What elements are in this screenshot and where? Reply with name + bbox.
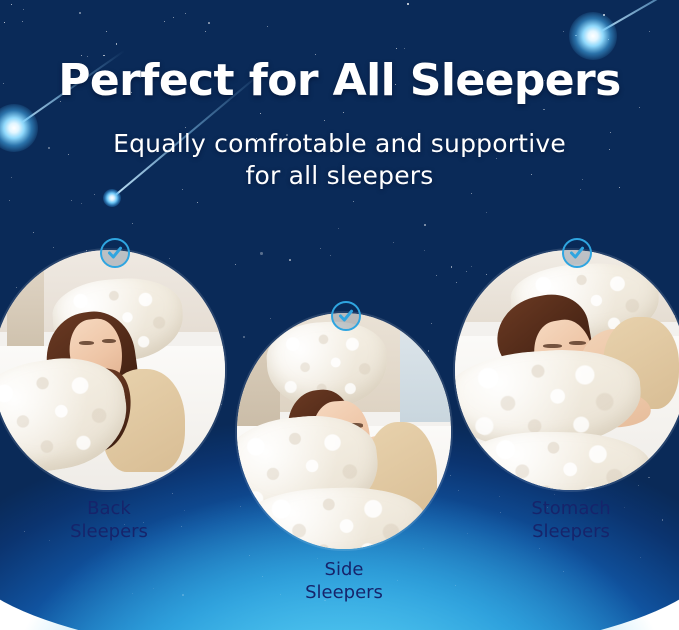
star xyxy=(543,109,545,111)
star xyxy=(539,548,540,549)
subtitle-line-2: for all sleepers xyxy=(0,160,679,192)
photo-scene xyxy=(455,250,679,490)
star xyxy=(197,202,198,203)
caption-line-1: Back xyxy=(0,498,225,521)
sleeper-photo-side xyxy=(237,313,451,549)
star xyxy=(208,22,210,24)
check-badge-stomach xyxy=(562,238,592,268)
star xyxy=(11,4,12,5)
caption-line-2: Sleepers xyxy=(455,521,679,544)
sleeper-banner: Perfect for All Sleepers Equally comfrot… xyxy=(0,0,679,630)
eyebrow xyxy=(569,341,586,345)
sleeper-caption-back: Back Sleepers xyxy=(0,498,225,543)
star xyxy=(116,43,118,45)
star xyxy=(424,250,425,251)
star xyxy=(353,201,354,202)
sleeper-card-side: Side Sleepers xyxy=(237,313,451,603)
page-title: Perfect for All Sleepers xyxy=(0,59,679,103)
sleeper-card-back: Back Sleepers xyxy=(0,250,225,540)
check-badge-side xyxy=(331,301,361,331)
star xyxy=(563,571,564,572)
star xyxy=(81,203,82,204)
star xyxy=(343,112,344,113)
star xyxy=(563,31,564,32)
star xyxy=(407,3,409,5)
star xyxy=(330,255,331,256)
caption-line-1: Stomach xyxy=(455,498,679,521)
eyebrow xyxy=(102,339,116,343)
star xyxy=(4,22,5,23)
star xyxy=(404,48,405,49)
star xyxy=(649,31,650,32)
star xyxy=(22,21,23,22)
star xyxy=(260,252,262,254)
star xyxy=(320,248,321,249)
check-badge-back xyxy=(100,238,130,268)
star xyxy=(393,242,394,243)
sleeper-photo-stomach xyxy=(455,250,679,490)
star xyxy=(9,200,10,201)
check-icon xyxy=(569,245,585,261)
caption-line-1: Side xyxy=(237,559,451,582)
star xyxy=(451,266,453,268)
subtitle-line-1: Equally comfrotable and supportive xyxy=(0,128,679,160)
star xyxy=(185,13,186,14)
page-subtitle: Equally comfrotable and supportive for a… xyxy=(0,128,679,192)
star xyxy=(338,228,339,229)
star xyxy=(436,275,437,276)
star xyxy=(396,48,397,49)
star xyxy=(324,120,325,121)
star xyxy=(640,557,641,558)
star xyxy=(267,26,268,27)
eyebrow xyxy=(79,341,95,345)
sleeper-photo-back xyxy=(0,250,225,490)
photo-scene xyxy=(0,250,225,490)
star xyxy=(53,247,54,248)
check-icon xyxy=(338,308,354,324)
star xyxy=(260,113,261,114)
sleeper-caption-side: Side Sleepers xyxy=(237,559,451,604)
eyebrow xyxy=(543,344,562,348)
sleeper-card-stomach: Stomach Sleepers xyxy=(455,250,679,540)
star xyxy=(79,12,81,14)
star xyxy=(33,232,34,233)
star xyxy=(132,223,134,225)
star xyxy=(173,17,174,18)
star xyxy=(639,107,640,108)
caption-line-2: Sleepers xyxy=(237,582,451,605)
star xyxy=(471,193,473,195)
photo-scene xyxy=(237,313,451,549)
star xyxy=(424,224,426,226)
check-icon xyxy=(107,245,123,261)
star xyxy=(106,31,107,32)
star xyxy=(486,212,487,213)
star xyxy=(94,194,95,195)
sleeper-caption-stomach: Stomach Sleepers xyxy=(455,498,679,543)
headboard xyxy=(7,250,44,346)
star xyxy=(289,259,291,261)
star xyxy=(164,21,165,22)
caption-line-2: Sleepers xyxy=(0,521,225,544)
star xyxy=(455,585,456,586)
star xyxy=(132,593,133,594)
star xyxy=(235,264,236,265)
star xyxy=(205,31,206,32)
star xyxy=(182,594,184,596)
star xyxy=(153,588,154,589)
star xyxy=(23,9,24,10)
star xyxy=(71,200,72,201)
